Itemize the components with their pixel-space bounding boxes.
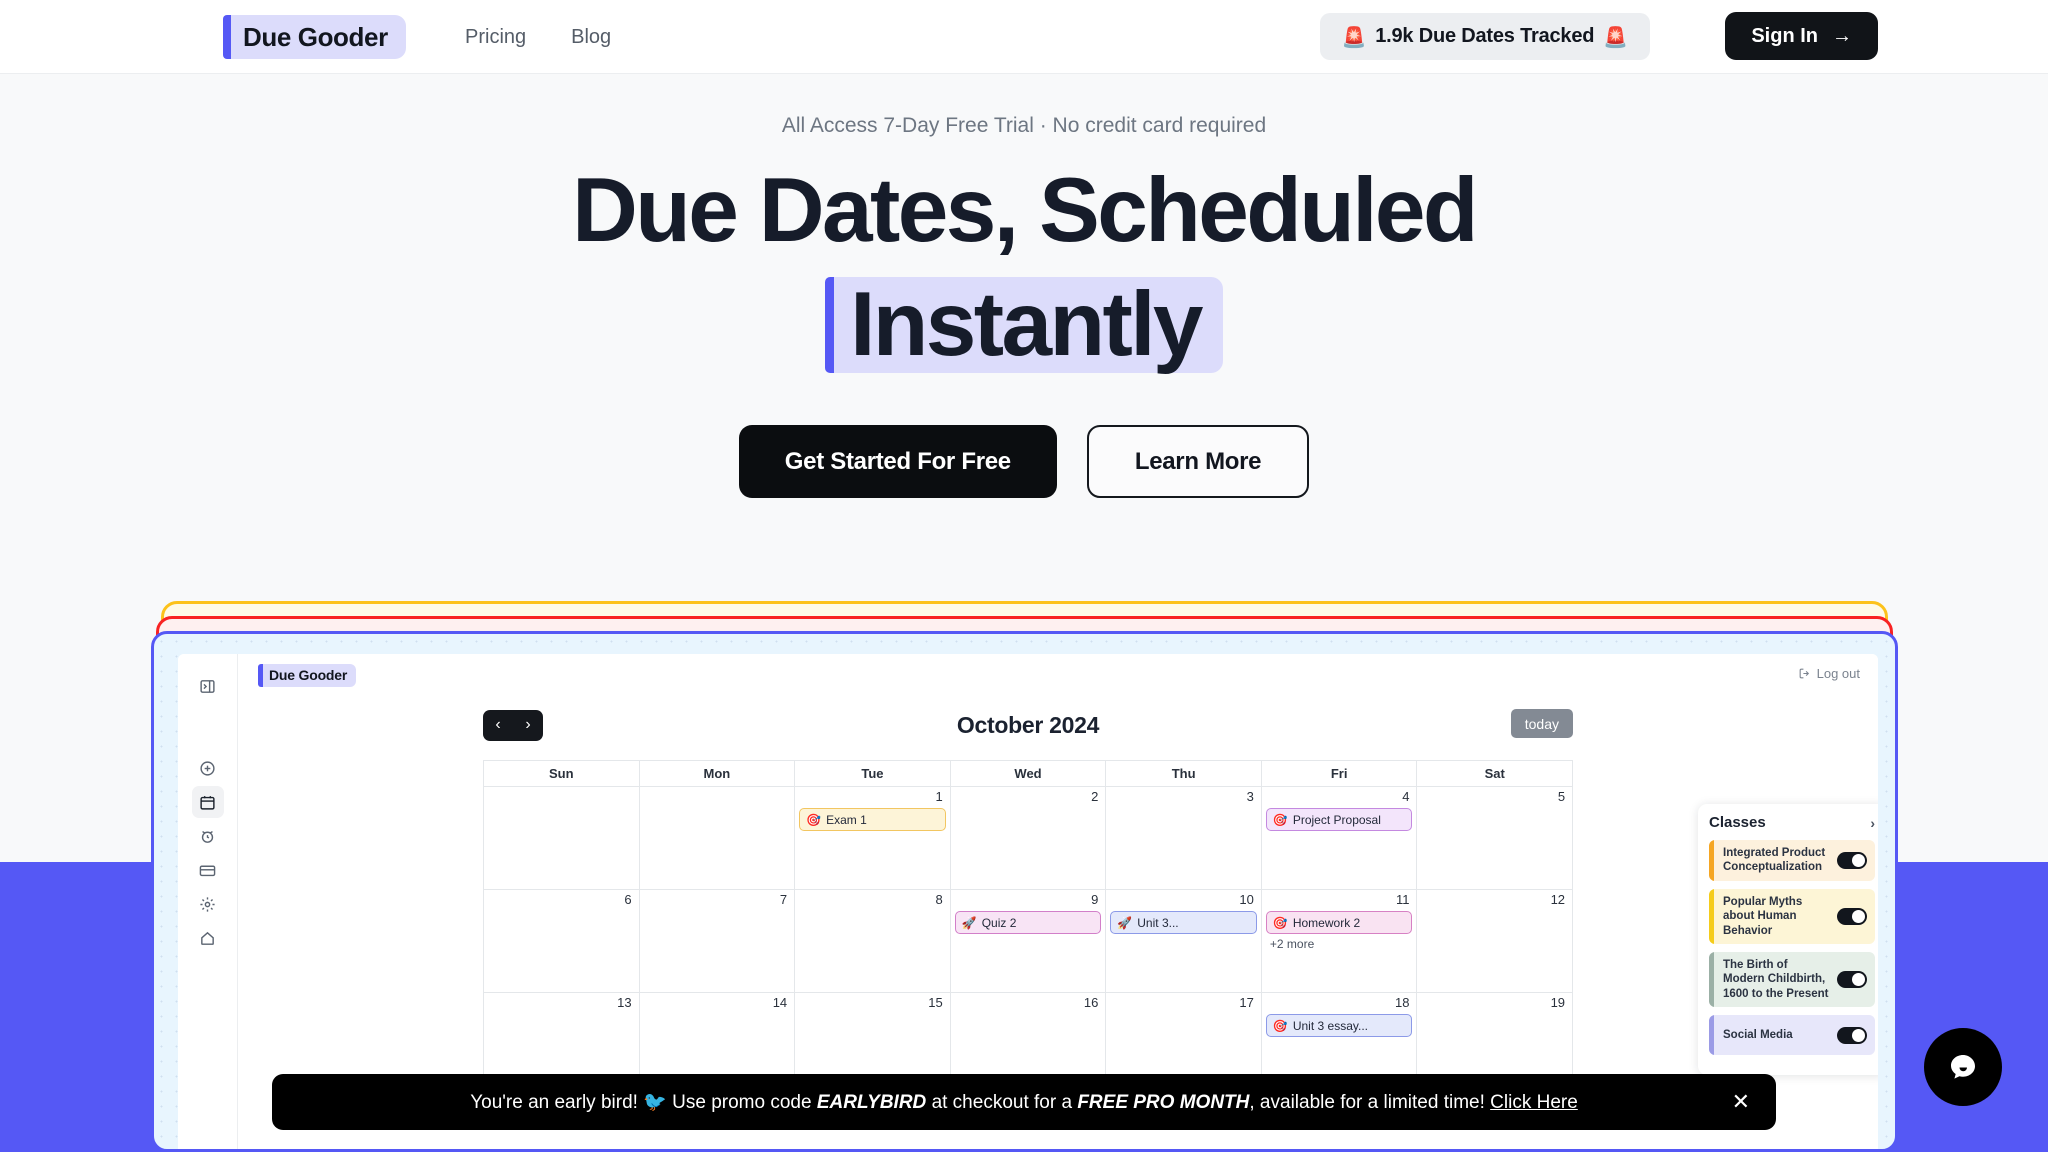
calendar-day-cell[interactable]: [640, 787, 796, 890]
site-header: Due Gooder Pricing Blog 🚨 1.9k Due Dates…: [0, 0, 2048, 74]
gear-icon[interactable]: [192, 888, 224, 920]
credit-card-icon[interactable]: [192, 854, 224, 886]
calendar-day-cell[interactable]: 5: [1417, 787, 1572, 890]
hero-highlight: Instantly: [825, 277, 1223, 373]
logout-button[interactable]: Log out: [1798, 666, 1860, 681]
chat-bubble-icon: [1943, 1047, 1983, 1087]
get-started-button[interactable]: Get Started For Free: [739, 425, 1057, 498]
chat-widget-button[interactable]: [1924, 1028, 2002, 1106]
calendar-day-cell[interactable]: 6: [484, 890, 640, 993]
class-list-item[interactable]: Popular Myths about Human Behavior: [1709, 889, 1875, 944]
weekday-thu: Thu: [1106, 761, 1262, 787]
weekday-tue: Tue: [795, 761, 951, 787]
class-list-item[interactable]: Integrated Product Conceptualization: [1709, 840, 1875, 881]
event-label: Quiz 2: [982, 916, 1017, 930]
event-emoji-icon: 🎯: [1273, 916, 1288, 930]
calendar-week-row: 6789🚀Quiz 210🚀Unit 3...11🎯Homework 2+2 m…: [484, 890, 1572, 993]
learn-more-button[interactable]: Learn More: [1087, 425, 1309, 498]
class-name-label: Popular Myths about Human Behavior: [1723, 895, 1831, 938]
calendar-grid: Sun Mon Tue Wed Thu Fri Sat 1🎯Exam 1234🎯…: [483, 760, 1573, 1096]
app-topbar: Due Gooder Log out: [238, 654, 1878, 696]
calendar-day-number: 7: [643, 892, 792, 907]
calendar-day-number: 3: [1109, 789, 1258, 804]
promo-offer: FREE PRO MONTH: [1077, 1092, 1249, 1113]
classes-title: Classes: [1709, 814, 1766, 831]
calendar-day-number: 13: [487, 995, 636, 1010]
tracked-count-label: 1.9k Due Dates Tracked: [1375, 25, 1594, 48]
calendar-day-cell[interactable]: 11🎯Homework 2+2 more: [1262, 890, 1418, 993]
logo-accent-bar: [223, 15, 231, 59]
event-emoji-icon: 🎯: [1273, 1019, 1288, 1033]
calendar-event[interactable]: 🎯Homework 2: [1266, 911, 1413, 934]
siren-icon-right: 🚨: [1603, 25, 1628, 49]
class-item-body: Popular Myths about Human Behavior: [1714, 889, 1875, 944]
calendar-day-cell[interactable]: 9🚀Quiz 2: [951, 890, 1107, 993]
logo-text: Due Gooder: [231, 15, 406, 59]
weekday-wed: Wed: [951, 761, 1107, 787]
promo-part2: Use promo code: [672, 1092, 811, 1113]
calendar-day-cell[interactable]: 12: [1417, 890, 1572, 993]
promo-code: EARLYBIRD: [817, 1092, 926, 1113]
class-list-item[interactable]: Social Media: [1709, 1015, 1875, 1055]
calendar-weekday-header: Sun Mon Tue Wed Thu Fri Sat: [484, 761, 1572, 787]
class-item-body: Integrated Product Conceptualization: [1714, 840, 1875, 881]
app-logo-text: Due Gooder: [263, 664, 356, 687]
weekday-mon: Mon: [640, 761, 796, 787]
app-logo[interactable]: Due Gooder: [258, 664, 356, 687]
calendar-day-cell[interactable]: 1🎯Exam 1: [795, 787, 951, 890]
hero-cta-row: Get Started For Free Learn More: [0, 425, 2048, 498]
weekday-sat: Sat: [1417, 761, 1572, 787]
classes-list: Integrated Product ConceptualizationPopu…: [1709, 840, 1875, 1055]
chevron-right-icon[interactable]: ›: [1870, 815, 1875, 831]
calendar-day-number: 19: [1420, 995, 1569, 1010]
home-icon[interactable]: [192, 922, 224, 954]
calendar-week-row: 1🎯Exam 1234🎯Project Proposal5: [484, 787, 1572, 890]
promo-part4: , available for a limited time!: [1249, 1092, 1485, 1113]
page-root: Due Gooder Pricing Blog 🚨 1.9k Due Dates…: [0, 0, 2048, 1152]
class-visibility-toggle[interactable]: [1837, 908, 1867, 925]
promo-banner-text: You're an early bird! 🐦 Use promo code E…: [470, 1090, 1578, 1114]
event-emoji-icon: 🎯: [1273, 813, 1288, 827]
calendar-day-cell[interactable]: [484, 787, 640, 890]
logout-icon: [1798, 667, 1811, 680]
hero-highlight-text: Instantly: [834, 277, 1223, 373]
event-label: Homework 2: [1293, 916, 1360, 930]
calendar-header: ‹ › October 2024 today: [483, 708, 1573, 742]
site-logo[interactable]: Due Gooder: [223, 15, 406, 59]
event-emoji-icon: 🚀: [1117, 916, 1132, 930]
hero-eyebrow: All Access 7-Day Free Trial · No credit …: [0, 114, 2048, 138]
app-sidebar: [178, 654, 238, 1152]
calendar-day-cell[interactable]: 2: [951, 787, 1107, 890]
calendar-day-number: 8: [798, 892, 947, 907]
calendar-day-number: 18: [1265, 995, 1414, 1010]
calendar-day-number: 12: [1420, 892, 1569, 907]
siren-icon-left: 🚨: [1342, 25, 1367, 49]
calendar-day-cell[interactable]: 3: [1106, 787, 1262, 890]
nav-item-blog[interactable]: Blog: [571, 26, 611, 49]
main-nav: Pricing Blog: [465, 0, 611, 74]
today-button[interactable]: today: [1511, 709, 1573, 738]
due-dates-tracked-badge: 🚨 1.9k Due Dates Tracked 🚨: [1320, 13, 1650, 60]
promo-part1: You're an early bird!: [470, 1092, 638, 1113]
classes-panel-header: Classes ›: [1709, 814, 1875, 831]
calendar-more-events-link[interactable]: +2 more: [1265, 937, 1414, 951]
calendar-event[interactable]: 🎯Exam 1: [799, 808, 946, 831]
class-visibility-toggle[interactable]: [1837, 971, 1867, 988]
panel-expand-icon[interactable]: [192, 670, 224, 702]
class-visibility-toggle[interactable]: [1837, 1027, 1867, 1044]
nav-item-pricing[interactable]: Pricing: [465, 26, 526, 49]
calendar-day-cell[interactable]: 7: [640, 890, 796, 993]
calendar-day-cell[interactable]: 8: [795, 890, 951, 993]
calendar-event[interactable]: 🚀Unit 3...: [1110, 911, 1257, 934]
hero-heading-line2: Instantly: [0, 277, 2048, 378]
hero-heading-line1: Due Dates, Scheduled: [0, 164, 2048, 259]
class-item-body: The Birth of Modern Childbirth, 1600 to …: [1714, 952, 1875, 1007]
promo-click-here-link[interactable]: Click Here: [1490, 1092, 1578, 1113]
calendar-event[interactable]: 🎯Unit 3 essay...: [1266, 1014, 1413, 1037]
calendar-day-number: 11: [1265, 892, 1414, 907]
event-label: Project Proposal: [1293, 813, 1381, 827]
event-label: Unit 3 essay...: [1293, 1019, 1368, 1033]
calendar-day-number: 15: [798, 995, 947, 1010]
calendar-day-number: 9: [954, 892, 1103, 907]
alarm-clock-icon[interactable]: [192, 820, 224, 852]
calendar-day-number: 17: [1109, 995, 1258, 1010]
class-visibility-toggle[interactable]: [1837, 852, 1867, 869]
promo-part3: at checkout for a: [932, 1092, 1072, 1113]
calendar-day-number: 14: [643, 995, 792, 1010]
calendar-body: 1🎯Exam 1234🎯Project Proposal56789🚀Quiz 2…: [484, 787, 1572, 1096]
calendar-event[interactable]: 🚀Quiz 2: [955, 911, 1102, 934]
classes-panel: Classes › Integrated Product Conceptuali…: [1698, 804, 1878, 1075]
calendar-day-number: 5: [1420, 789, 1569, 804]
calendar-day-number: 2: [954, 789, 1103, 804]
highlight-accent-bar: [825, 277, 834, 373]
calendar-day-number: 16: [954, 995, 1103, 1010]
calendar-day-number: 1: [798, 789, 947, 804]
promo-banner: You're an early bird! 🐦 Use promo code E…: [272, 1074, 1776, 1130]
calendar-day-number: 10: [1109, 892, 1258, 907]
arrow-right-icon: →: [1832, 25, 1852, 48]
bird-icon: 🐦: [643, 1091, 667, 1113]
class-name-label: Social Media: [1723, 1028, 1793, 1042]
sign-in-label: Sign In: [1751, 25, 1818, 48]
event-label: Unit 3...: [1137, 916, 1178, 930]
banner-close-button[interactable]: ✕: [1732, 1091, 1750, 1113]
calendar-icon[interactable]: [192, 786, 224, 818]
class-name-label: Integrated Product Conceptualization: [1723, 846, 1831, 875]
class-list-item[interactable]: The Birth of Modern Childbirth, 1600 to …: [1709, 952, 1875, 1007]
calendar-day-number: 4: [1265, 789, 1414, 804]
logout-label: Log out: [1817, 666, 1860, 681]
calendar: ‹ › October 2024 today Sun Mon Tue Wed T…: [483, 708, 1573, 1096]
weekday-sun: Sun: [484, 761, 640, 787]
sign-in-button[interactable]: Sign In →: [1725, 12, 1878, 60]
event-emoji-icon: 🚀: [962, 916, 977, 930]
event-emoji-icon: 🎯: [806, 813, 821, 827]
calendar-day-number: 6: [487, 892, 636, 907]
plus-circle-icon[interactable]: [192, 752, 224, 784]
event-label: Exam 1: [826, 813, 867, 827]
calendar-title: October 2024: [483, 712, 1573, 739]
class-item-body: Social Media: [1714, 1021, 1875, 1050]
calendar-day-cell[interactable]: 4🎯Project Proposal: [1262, 787, 1418, 890]
calendar-day-cell[interactable]: 10🚀Unit 3...: [1106, 890, 1262, 993]
class-name-label: The Birth of Modern Childbirth, 1600 to …: [1723, 958, 1831, 1001]
weekday-fri: Fri: [1262, 761, 1418, 787]
calendar-event[interactable]: 🎯Project Proposal: [1266, 808, 1413, 831]
